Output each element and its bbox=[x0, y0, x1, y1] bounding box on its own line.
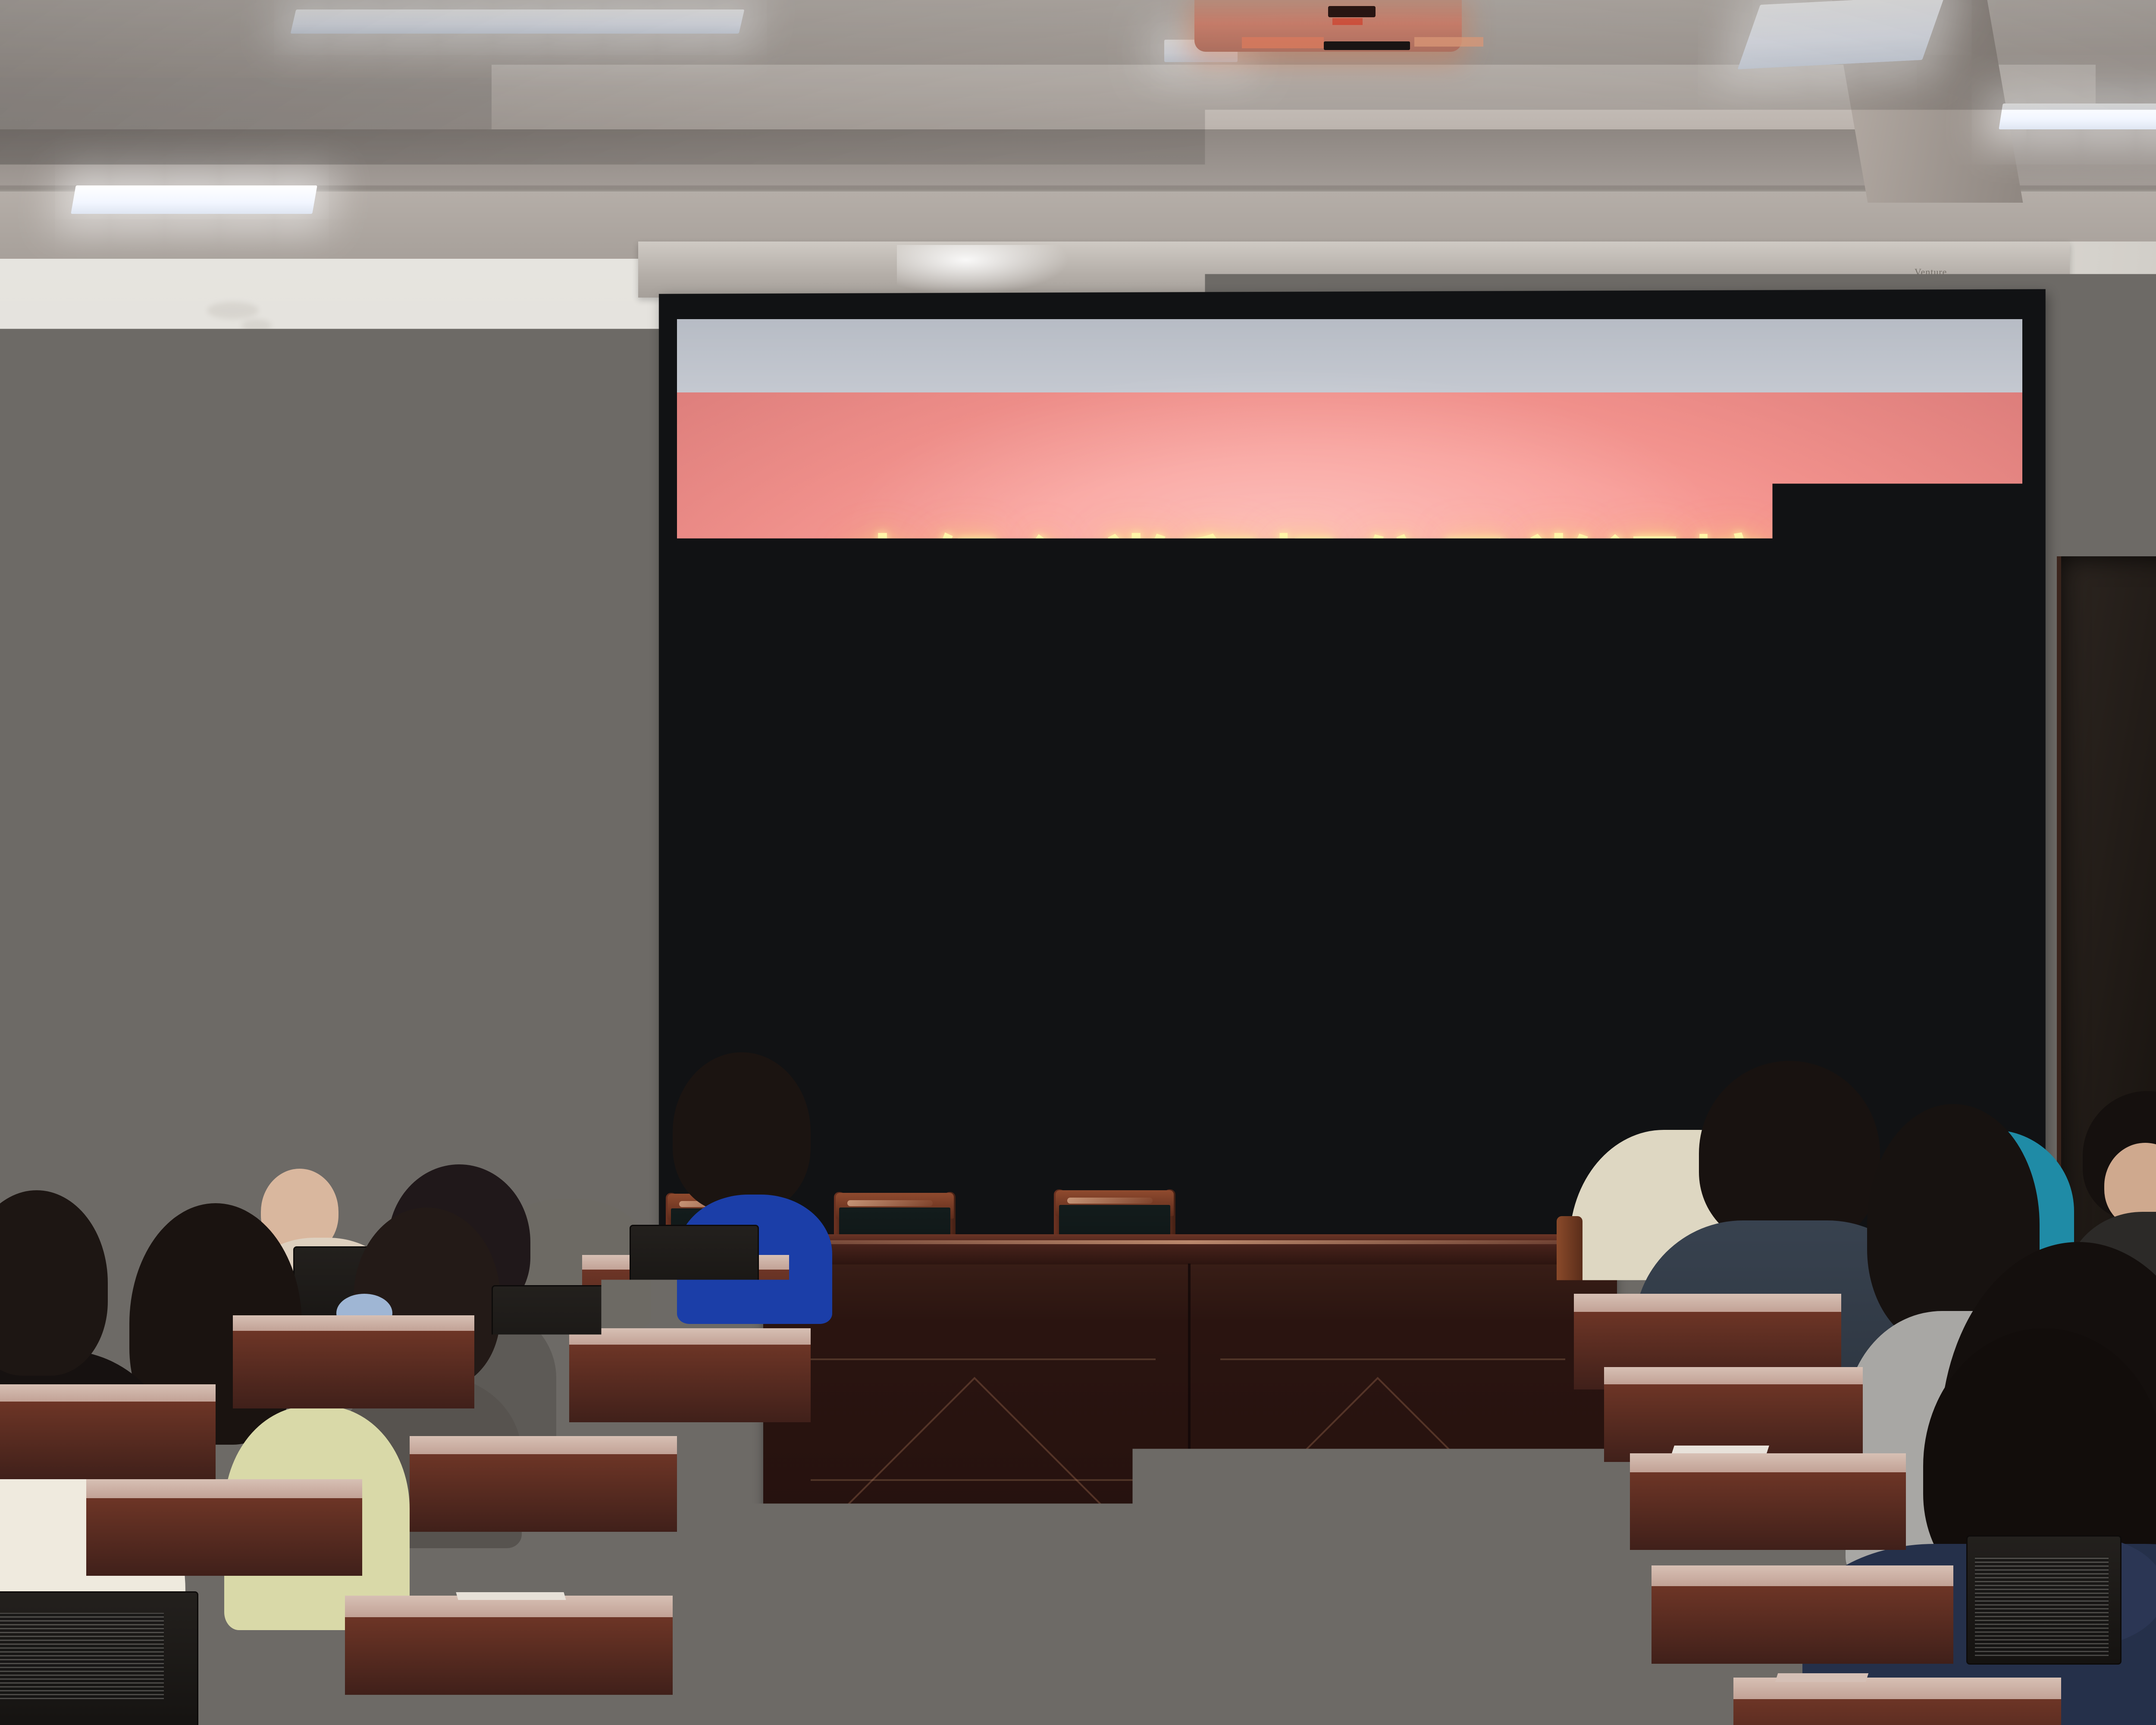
seat-backrest bbox=[492, 1285, 634, 1389]
projector-glow-left bbox=[1242, 37, 1324, 48]
student-desk bbox=[233, 1315, 474, 1331]
desk-side bbox=[233, 1331, 474, 1408]
projector-indicator bbox=[1332, 18, 1363, 25]
student-desk bbox=[86, 1479, 362, 1498]
student-desk bbox=[1604, 1367, 1863, 1384]
chair-mesh-back bbox=[0, 1613, 164, 1699]
whiteboard-smudge bbox=[210, 891, 244, 911]
presentation-slide: 中级入党积极分子党课培训 数学与统计学院 2021年3月26日 bbox=[677, 392, 2022, 1074]
screen-brand-logo: Venture bbox=[1915, 267, 1971, 278]
projector-lens bbox=[1328, 6, 1376, 17]
projection-screen-casing bbox=[638, 241, 2070, 298]
podium-panel-line bbox=[811, 1479, 1156, 1481]
wall-mark bbox=[241, 319, 272, 332]
desk-side bbox=[86, 1498, 362, 1576]
water-bottle bbox=[2022, 1044, 2048, 1126]
chair-mesh-back bbox=[1880, 1402, 2001, 1492]
desk-side bbox=[1651, 1586, 1953, 1664]
ceiling-soffit-edge bbox=[0, 185, 2156, 191]
slide-subtitle: 数学与统计学院 bbox=[1208, 669, 1492, 723]
desk-side bbox=[1630, 1472, 1906, 1550]
paper-sheet bbox=[1775, 1673, 1868, 1682]
podium-panel-line bbox=[811, 1358, 1156, 1360]
desk-side bbox=[1733, 1699, 2061, 1725]
ceiling-band-mid bbox=[0, 129, 2156, 190]
projector-glow-right bbox=[1414, 37, 1483, 47]
podium-panel-line bbox=[1220, 1358, 1565, 1360]
student-desk bbox=[410, 1436, 677, 1454]
ceiling-light-fixture bbox=[291, 9, 745, 34]
podium-panel-line bbox=[1220, 1479, 1565, 1481]
whiteboard bbox=[17, 556, 703, 1095]
projector-vent bbox=[1324, 41, 1410, 50]
whiteboard-clip bbox=[89, 570, 100, 579]
student-desk bbox=[1574, 1294, 1841, 1312]
paper-sheet bbox=[1672, 1446, 1769, 1453]
wall-mark bbox=[207, 302, 259, 319]
podium-highlight bbox=[755, 1240, 1626, 1244]
student-desk bbox=[1651, 1565, 1953, 1586]
slide-title: 中级入党积极分子党课培训 bbox=[843, 535, 1857, 615]
student-desk bbox=[1630, 1453, 1906, 1472]
student-desk bbox=[0, 1384, 216, 1402]
water-bottle bbox=[1557, 1216, 1583, 1298]
ceiling-light-fixture bbox=[1999, 103, 2156, 129]
whiteboard-clip bbox=[589, 570, 600, 579]
casing-light-reflection bbox=[897, 245, 1069, 295]
ceiling-light-fixture bbox=[71, 185, 317, 214]
seat-backrest bbox=[630, 1225, 759, 1315]
chair-mesh-back bbox=[1975, 1557, 2109, 1656]
podium-panel-seam bbox=[1188, 1264, 1191, 1725]
whiteboard-smudge bbox=[516, 1020, 533, 1032]
lecture-hall-photo: Venture 中级入党积极分子党课培训 数学与统计学院 2021年3月26日 bbox=[0, 0, 2156, 1725]
desk-side bbox=[0, 1402, 216, 1479]
desk-side bbox=[410, 1454, 677, 1532]
desk-side bbox=[345, 1617, 673, 1695]
ceiling-light-fixture bbox=[1738, 0, 1945, 69]
slide-date: 2021年3月26日 bbox=[1223, 732, 1477, 786]
paper-sheet bbox=[456, 1592, 566, 1600]
podium-top-rail bbox=[750, 1234, 1630, 1264]
whiteboard-surface bbox=[24, 563, 696, 1088]
